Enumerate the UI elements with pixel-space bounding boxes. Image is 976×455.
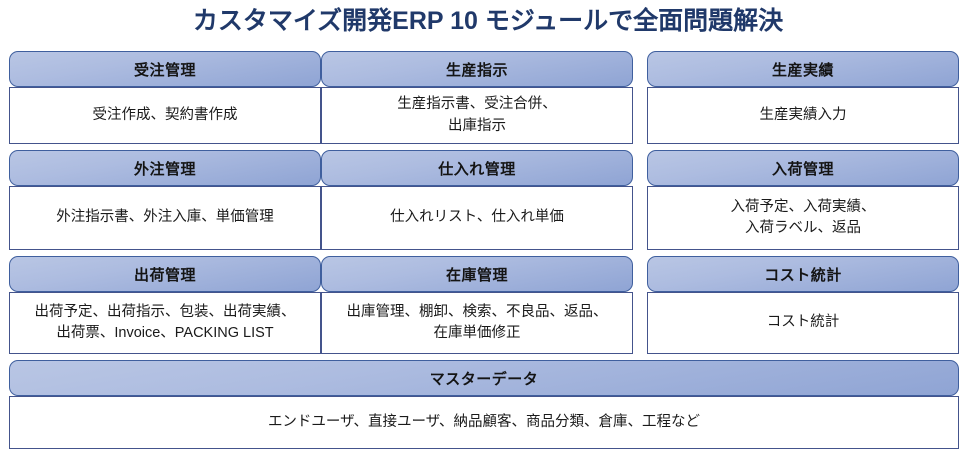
module-card-body: 受注作成、契約書作成 — [9, 87, 321, 144]
module-card-body: 生産実績入力 — [647, 87, 959, 144]
module-card-body-text: 出庫管理、棚卸、検索、不良品、返品、 在庫単価修正 — [347, 302, 608, 344]
module-card-body-text: 生産実績入力 — [760, 105, 847, 126]
module-card-body-text: エンドユーザ、直接ユーザ、納品顧客、商品分類、倉庫、工程など — [268, 412, 700, 433]
module-grid: 受注管理 受注作成、契約書作成 生産指示 生産指示書、受注合併、 出庫指示 生産… — [9, 51, 959, 449]
module-card-header: 出荷管理 — [9, 256, 321, 292]
module-card-gaichu-kanri[interactable]: 外注管理 外注指示書、外注入庫、単価管理 — [9, 150, 321, 250]
module-row-master-data: マスターデータ エンドユーザ、直接ユーザ、納品顧客、商品分類、倉庫、工程など — [9, 360, 959, 449]
page-title: カスタマイズ開発ERP 10 モジュールで全面問題解決 — [0, 4, 976, 38]
module-card-nyuka-kanri[interactable]: 入荷管理 入荷予定、入荷実績、 入荷ラベル、返品 — [647, 150, 959, 250]
diagram-canvas: カスタマイズ開発ERP 10 モジュールで全面問題解決 受注管理 受注作成、契約… — [0, 0, 976, 455]
module-card-body: 外注指示書、外注入庫、単価管理 — [9, 186, 321, 250]
module-card-header: 生産指示 — [321, 51, 633, 87]
module-card-shiire-kanri[interactable]: 仕入れ管理 仕入れリスト、仕入れ単価 — [321, 150, 633, 250]
module-card-body: 出荷予定、出荷指示、包装、出荷実績、 出荷票、Invoice、PACKING L… — [9, 292, 321, 354]
module-row-3: 出荷管理 出荷予定、出荷指示、包装、出荷実績、 出荷票、Invoice、PACK… — [9, 256, 959, 354]
module-card-body: 入荷予定、入荷実績、 入荷ラベル、返品 — [647, 186, 959, 250]
module-row-1: 受注管理 受注作成、契約書作成 生産指示 生産指示書、受注合併、 出庫指示 生産… — [9, 51, 959, 144]
module-card-body-text: コスト統計 — [767, 312, 840, 333]
module-card-body: エンドユーザ、直接ユーザ、納品顧客、商品分類、倉庫、工程など — [9, 396, 959, 449]
module-card-juchu-kanri[interactable]: 受注管理 受注作成、契約書作成 — [9, 51, 321, 144]
module-card-body: 生産指示書、受注合併、 出庫指示 — [321, 87, 633, 144]
module-card-master-data[interactable]: マスターデータ エンドユーザ、直接ユーザ、納品顧客、商品分類、倉庫、工程など — [9, 360, 959, 449]
module-card-header: コスト統計 — [647, 256, 959, 292]
module-card-seisan-shiji[interactable]: 生産指示 生産指示書、受注合併、 出庫指示 — [321, 51, 633, 144]
module-card-cost-tokei[interactable]: コスト統計 コスト統計 — [647, 256, 959, 354]
module-card-shukka-kanri[interactable]: 出荷管理 出荷予定、出荷指示、包装、出荷実績、 出荷票、Invoice、PACK… — [9, 256, 321, 354]
module-card-body: 出庫管理、棚卸、検索、不良品、返品、 在庫単価修正 — [321, 292, 633, 354]
module-card-body-text: 入荷予定、入荷実績、 入荷ラベル、返品 — [731, 197, 876, 239]
module-card-body-text: 出荷予定、出荷指示、包装、出荷実績、 出荷票、Invoice、PACKING L… — [35, 302, 296, 344]
module-card-header: 在庫管理 — [321, 256, 633, 292]
module-card-seisan-jisseki[interactable]: 生産実績 生産実績入力 — [647, 51, 959, 144]
module-card-body-text: 外注指示書、外注入庫、単価管理 — [56, 207, 274, 228]
module-card-body-text: 仕入れリスト、仕入れ単価 — [390, 207, 564, 228]
module-row-2: 外注管理 外注指示書、外注入庫、単価管理 仕入れ管理 仕入れリスト、仕入れ単価 … — [9, 150, 959, 250]
module-card-header: 入荷管理 — [647, 150, 959, 186]
module-card-header: マスターデータ — [9, 360, 959, 396]
module-card-header: 生産実績 — [647, 51, 959, 87]
module-card-header: 受注管理 — [9, 51, 321, 87]
module-card-zaiko-kanri[interactable]: 在庫管理 出庫管理、棚卸、検索、不良品、返品、 在庫単価修正 — [321, 256, 633, 354]
module-card-body: コスト統計 — [647, 292, 959, 354]
module-card-header: 外注管理 — [9, 150, 321, 186]
module-card-body-text: 受注作成、契約書作成 — [93, 105, 238, 126]
module-card-header: 仕入れ管理 — [321, 150, 633, 186]
module-card-body-text: 生産指示書、受注合併、 出庫指示 — [397, 94, 557, 136]
module-card-body: 仕入れリスト、仕入れ単価 — [321, 186, 633, 250]
